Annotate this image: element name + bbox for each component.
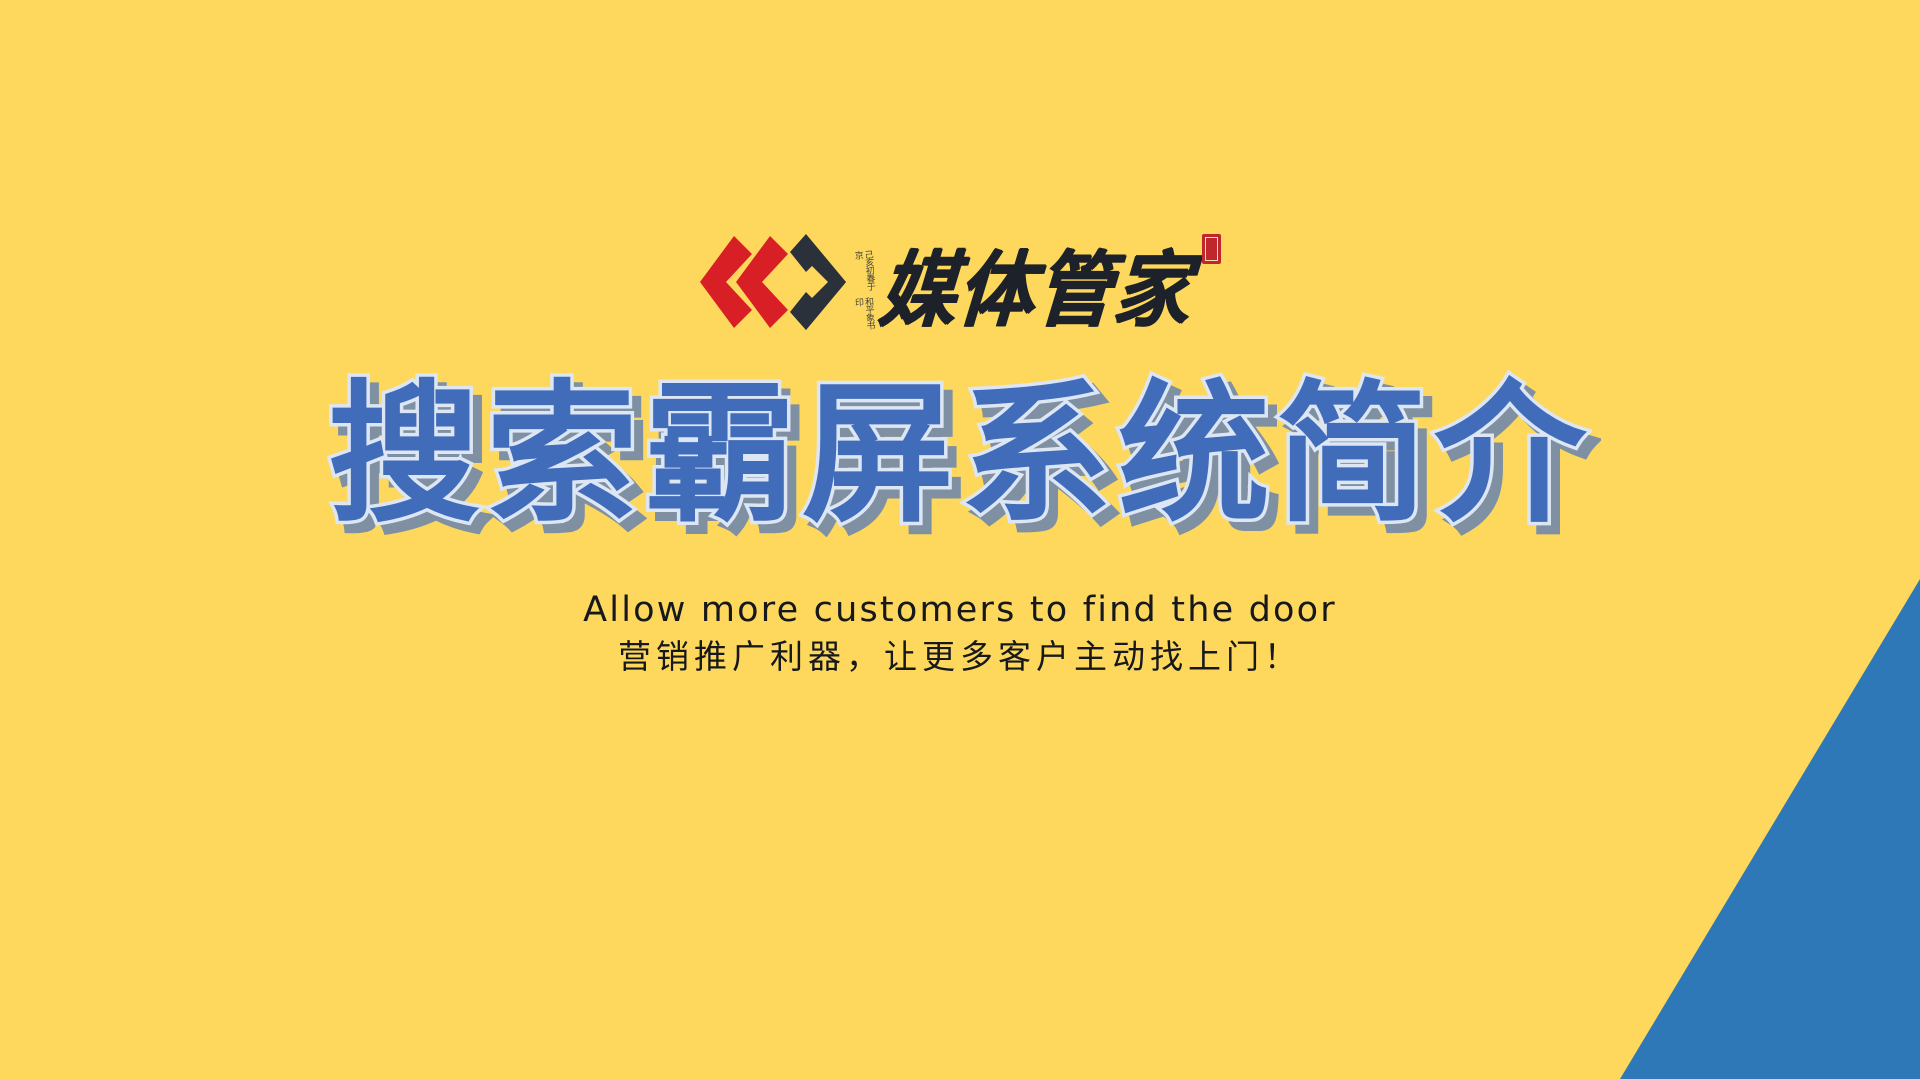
- subtitle-block: Allow more customers to find the door 营销…: [0, 588, 1920, 679]
- logo-seal-stamp-icon: [1202, 234, 1221, 264]
- brand-logo-lockup: 己亥初春于京 和平象书印 媒体管家: [0, 228, 1920, 336]
- inscription-line-2: 和平象书印: [862, 297, 875, 337]
- logo-wordmark: 己亥初春于京 和平象书印 媒体管家: [864, 232, 1221, 332]
- inscription-line-1: 己亥初春于京: [862, 250, 875, 297]
- page-title: 搜索霸屏系统简介: [0, 375, 1920, 535]
- subtitle-english: Allow more customers to find the door: [0, 588, 1920, 632]
- subtitle-chinese: 营销推广利器，让更多客户主动找上门！: [0, 635, 1920, 679]
- slide-canvas: 己亥初春于京 和平象书印 媒体管家 搜索霸屏系统简介 Allow more cu…: [0, 0, 1920, 1079]
- logo-brand-name-cn: 媒体管家: [876, 245, 1194, 336]
- logo-calligraphy-inscription: 己亥初春于京 和平象书印: [864, 250, 874, 336]
- logo-chevron-diamond-icon: [700, 232, 848, 332]
